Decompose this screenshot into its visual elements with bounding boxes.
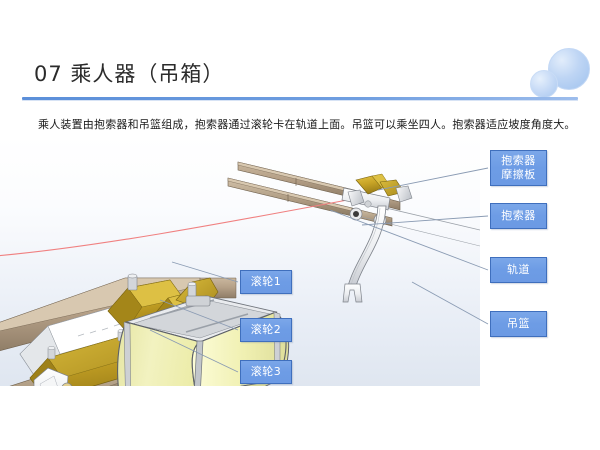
callout-roller-3[interactable]: 滚轮3	[240, 360, 292, 384]
callout-roller-1[interactable]: 滚轮1	[240, 270, 292, 294]
slide-root: 07 乘人器（吊箱） 乘人装置由抱索器和吊篮组成，抱索器通过滚轮卡在轨道上面。吊…	[0, 0, 600, 450]
slide-description: 乘人装置由抱索器和吊篮组成，抱索器通过滚轮卡在轨道上面。吊篮可以乘坐四人。抱索器…	[38, 116, 576, 132]
callout-track-label: 轨道	[507, 263, 530, 277]
callout-track[interactable]: 轨道	[490, 257, 547, 283]
callout-grip[interactable]: 抱索器	[490, 203, 547, 229]
callout-roller-1-label: 滚轮1	[251, 275, 282, 289]
callout-grip-plate[interactable]: 抱索器 摩擦板	[490, 150, 547, 186]
callout-roller-3-label: 滚轮3	[251, 365, 282, 379]
small-blue-circle	[530, 70, 558, 98]
callout-cabin[interactable]: 吊篮	[490, 311, 547, 337]
cableway-carrier-cad-render	[0, 136, 480, 386]
callout-grip-plate-line-1: 抱索器	[501, 154, 536, 168]
title-divider-shadow	[22, 100, 578, 101]
highlight-line	[0, 198, 358, 256]
decorative-circles	[520, 42, 592, 102]
callout-grip-label: 抱索器	[501, 209, 536, 223]
callout-grip-plate-line-2: 摩擦板	[501, 168, 536, 182]
callout-roller-2[interactable]: 滚轮2	[240, 318, 292, 342]
callout-roller-2-label: 滚轮2	[251, 323, 282, 337]
page-title: 07 乘人器（吊箱）	[34, 58, 224, 88]
callout-cabin-label: 吊篮	[507, 317, 530, 331]
cabin-hanger-arm	[343, 206, 386, 302]
